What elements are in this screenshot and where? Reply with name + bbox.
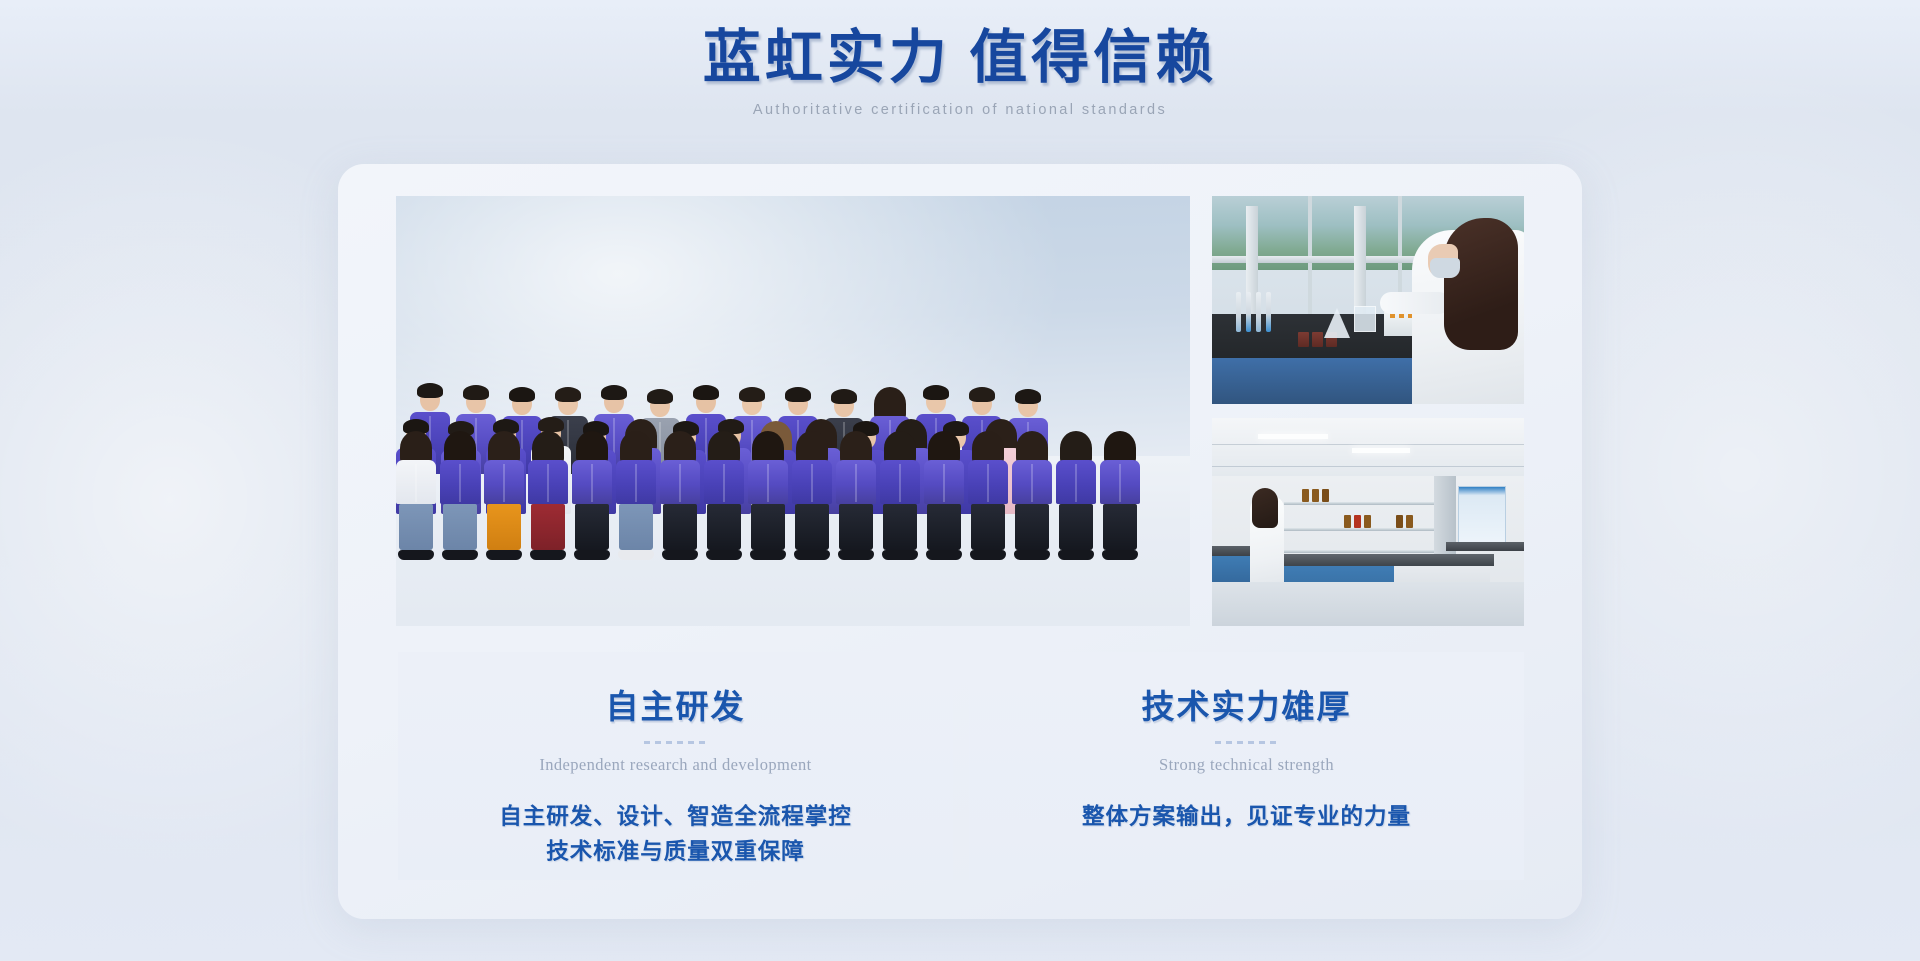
card-body-line-1: 整体方案输出，见证专业的力量 — [969, 800, 1524, 835]
group-photo[interactable] — [396, 196, 1190, 626]
person — [1056, 435, 1096, 560]
feature-card-rd[interactable]: 自主研发 Independent research and developmen… — [398, 652, 953, 880]
page-title: 蓝虹实力 值得信赖 — [0, 24, 1920, 92]
technician-hair — [1444, 218, 1518, 350]
card-title: 技术实力雄厚 — [969, 680, 1524, 728]
pipette-rack — [1236, 292, 1271, 332]
lab-floor — [1212, 582, 1524, 626]
feature-card-technical[interactable]: 技术实力雄厚 Strong technical strength 整体方案输出，… — [969, 652, 1524, 880]
person — [484, 435, 524, 560]
person — [968, 435, 1008, 560]
person — [1100, 435, 1140, 560]
group-photo-people — [396, 196, 1190, 626]
person — [924, 435, 964, 560]
beaker — [1354, 306, 1376, 332]
card-body: 自主研发、设计、智造全流程掌控 技术标准与质量双重保障 — [398, 800, 953, 870]
lab-ceiling — [1212, 418, 1524, 476]
right-bench-top — [1446, 542, 1524, 551]
card-body-line-2: 技术标准与质量双重保障 — [398, 835, 953, 870]
person — [660, 435, 700, 560]
volumetric-flask — [1324, 308, 1350, 338]
group-row-front — [396, 435, 1140, 560]
page-subtitle: Authoritative certification of national … — [0, 102, 1920, 118]
card-body: 整体方案输出，见证专业的力量 — [969, 800, 1524, 835]
dashed-divider-icon — [644, 741, 708, 744]
island-bench-top — [1274, 554, 1494, 566]
technician-hair — [1252, 488, 1278, 528]
card-title: 自主研发 — [398, 680, 953, 728]
reagent-shelf-unit — [1284, 480, 1444, 552]
ceiling-lamp — [1258, 434, 1328, 439]
person — [440, 435, 480, 560]
person — [836, 435, 876, 560]
card-subtitle: Independent research and development — [398, 755, 953, 775]
safety-poster — [1458, 486, 1506, 548]
person — [572, 435, 612, 560]
card-body-line-1: 自主研发、设计、智造全流程掌控 — [398, 800, 953, 835]
person — [528, 435, 568, 560]
person — [616, 435, 656, 560]
content-panel: 自主研发 Independent research and developmen… — [338, 164, 1582, 919]
ceiling-grid-line — [1212, 466, 1524, 467]
person — [792, 435, 832, 560]
feature-cards: 自主研发 Independent research and developmen… — [398, 652, 1524, 880]
media-gallery — [396, 196, 1524, 626]
technician-arm — [1380, 292, 1450, 314]
section-header: 蓝虹实力 值得信赖 Authoritative certification of… — [0, 24, 1920, 118]
person — [880, 435, 920, 560]
dashed-divider-icon — [1215, 741, 1279, 744]
card-subtitle: Strong technical strength — [969, 755, 1524, 775]
laboratory-room-photo[interactable] — [1212, 418, 1524, 626]
person — [704, 435, 744, 560]
ceiling-grid-line — [1212, 444, 1524, 445]
person — [1012, 435, 1052, 560]
side-photo-column — [1212, 196, 1524, 626]
ceiling-lamp — [1352, 448, 1410, 453]
lab-technician-photo[interactable] — [1212, 196, 1524, 404]
face-mask-icon — [1430, 258, 1460, 278]
shelf-upright — [1354, 206, 1366, 318]
person — [748, 435, 788, 560]
person — [396, 435, 436, 560]
